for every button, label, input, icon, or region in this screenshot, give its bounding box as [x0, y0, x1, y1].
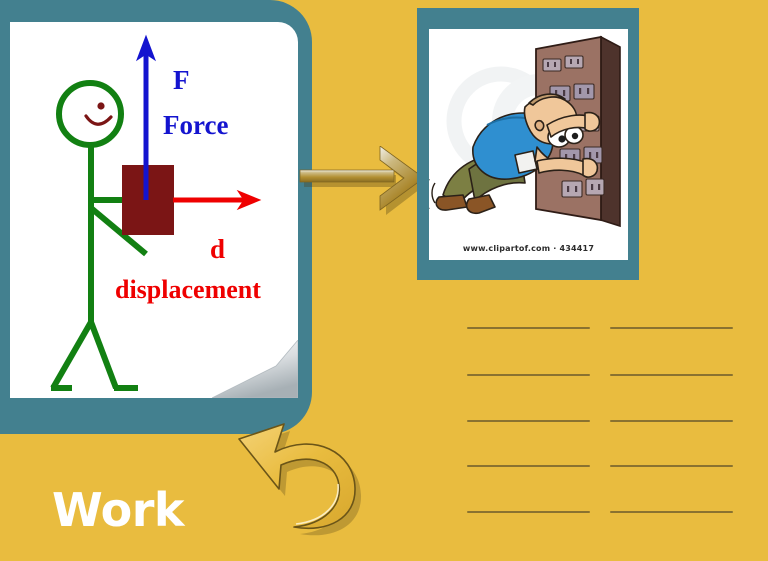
answer-line-left-3[interactable] — [467, 420, 590, 422]
man-pushing-wall-illustration — [429, 29, 628, 260]
stick-figure — [51, 83, 146, 388]
slide-title: Work — [52, 487, 184, 533]
answer-line-left-2[interactable] — [467, 374, 590, 376]
answer-line-left-4[interactable] — [467, 465, 590, 467]
slide-canvas: F Force d displacement — [0, 0, 768, 561]
force-word-label: Force — [163, 112, 228, 139]
force-symbol-label: F — [173, 67, 190, 94]
clipart-image: www.clipartof.com · 434417 — [429, 29, 628, 260]
diagram-card-page: F Force d displacement — [10, 22, 298, 398]
stick-figure-head — [59, 83, 121, 145]
displacement-word-label: displacement — [115, 277, 261, 303]
answer-line-right-5[interactable] — [610, 511, 733, 513]
answer-line-right-3[interactable] — [610, 420, 733, 422]
answer-line-right-2[interactable] — [610, 374, 733, 376]
clipart-caption: www.clipartof.com · 434417 — [429, 244, 628, 253]
displacement-symbol-label: d — [210, 236, 225, 263]
displacement-arrow — [173, 191, 260, 209]
clipart-frame: www.clipartof.com · 434417 — [417, 8, 639, 280]
curved-swoosh-arrow — [232, 366, 408, 538]
stick-figure-leg-left — [53, 322, 91, 388]
stick-figure-leg-right — [91, 322, 116, 388]
answer-line-left-5[interactable] — [467, 511, 590, 513]
answer-line-right-4[interactable] — [610, 465, 733, 467]
answer-line-right-1[interactable] — [610, 327, 733, 329]
right-pointing-3d-arrow — [296, 146, 424, 220]
stick-figure-eye — [97, 102, 104, 109]
answer-line-left-1[interactable] — [467, 327, 590, 329]
force-displacement-svg — [10, 22, 298, 398]
